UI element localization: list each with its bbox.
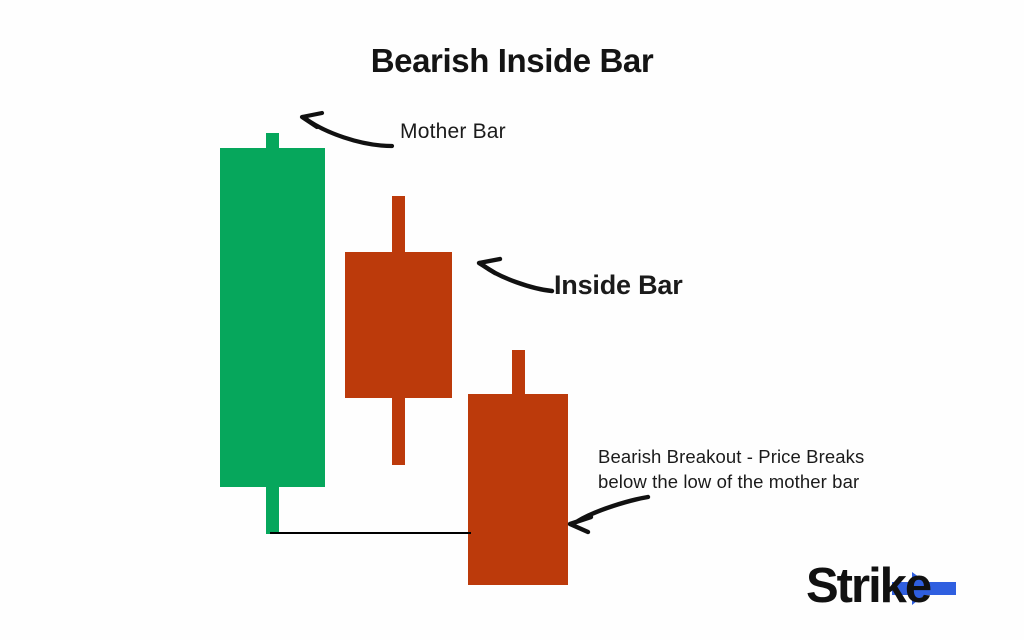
annotation-label-breakout-line2: below the low of the mother bar (598, 469, 918, 494)
page-title: Bearish Inside Bar (0, 42, 1024, 80)
strike-logo-text: Strike (806, 558, 930, 614)
curved-arrow-to-inside-bar (479, 259, 552, 291)
diagram-canvas: Bearish Inside Bar (0, 0, 1024, 640)
candle-breakout-bar-body (468, 394, 568, 585)
candle-breakout-bar-upper-wick (512, 350, 525, 398)
annotation-label-mother-bar: Mother Bar (400, 120, 506, 144)
candle-inside-bar-body (345, 252, 452, 398)
annotation-label-breakout: Bearish Breakout - Price Breaks below th… (598, 444, 918, 494)
curved-arrow-to-mother-bar (302, 113, 392, 146)
annotation-label-inside-bar: Inside Bar (554, 270, 683, 301)
curved-arrow-to-breakout-bar (570, 497, 648, 532)
annotation-label-breakout-line1: Bearish Breakout - Price Breaks (598, 444, 918, 469)
candle-inside-bar-upper-wick (392, 196, 405, 256)
candle-inside-bar-lower-wick (392, 395, 405, 465)
candle-mother-bar-body (220, 148, 325, 487)
candle-mother-bar-lower-wick (266, 484, 279, 534)
strike-logo: Strike (806, 558, 1006, 618)
